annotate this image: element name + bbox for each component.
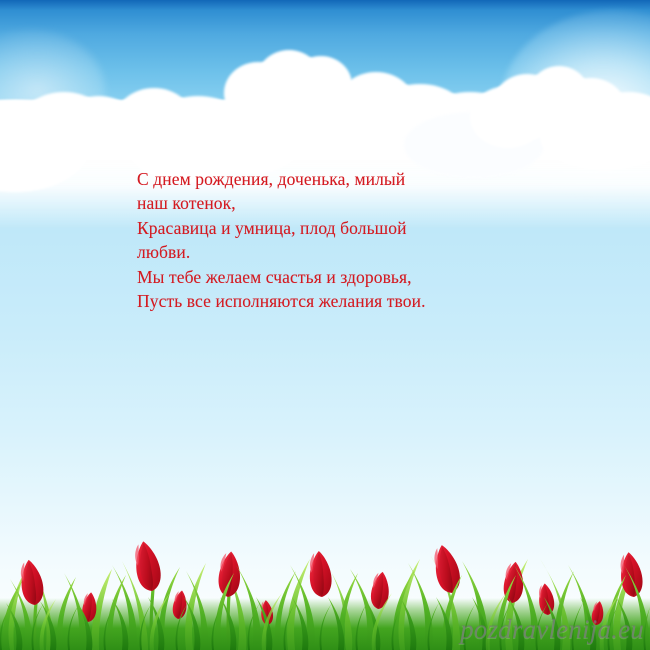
site-watermark: pozdravlenija.eu xyxy=(460,614,644,645)
greeting-text: С днем рождения, доченька, милый наш кот… xyxy=(137,167,567,313)
greeting-card: С днем рождения, доченька, милый наш кот… xyxy=(0,0,650,650)
